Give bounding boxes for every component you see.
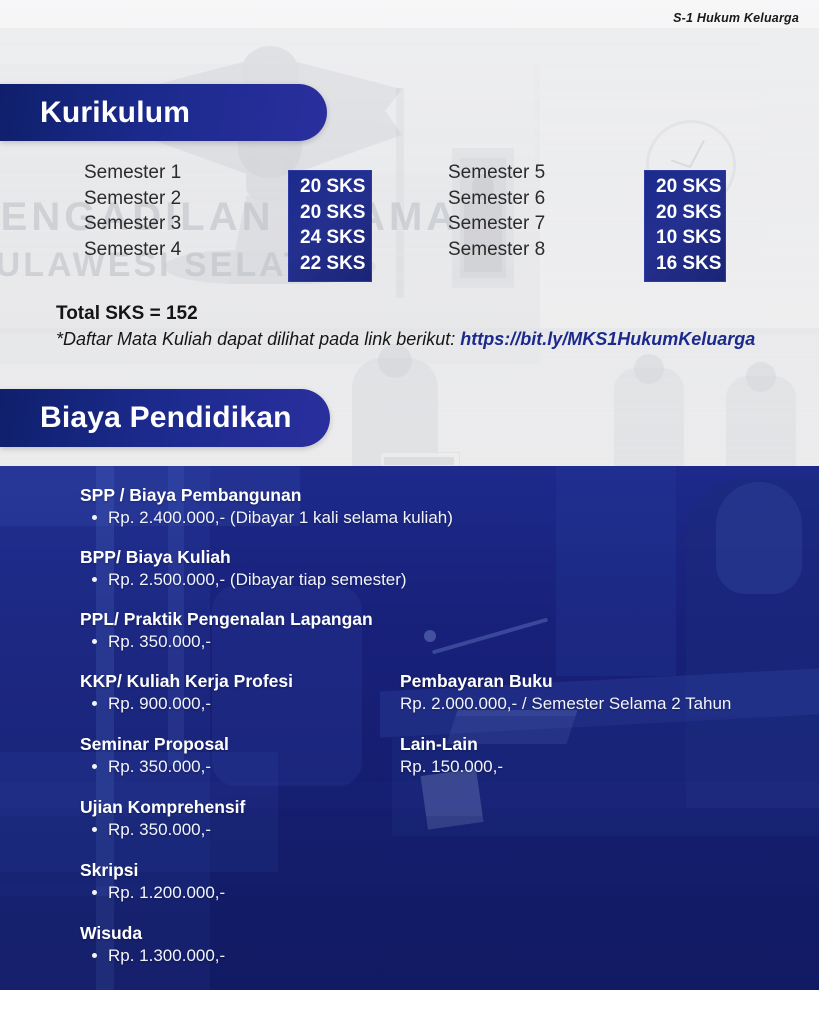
fee-group: Wisuda Rp. 1.300.000,- (80, 922, 225, 967)
fee-item-list: Rp. 2.000.000,- / Semester Selama 2 Tahu… (400, 692, 731, 715)
fee-title: SPP / Biaya Pembangunan (80, 484, 453, 506)
biaya-title: Biaya Pendidikan (40, 401, 292, 435)
fee-group: SPP / Biaya Pembangunan Rp. 2.400.000,- … (80, 484, 453, 529)
fee-title: Wisuda (80, 922, 225, 944)
fee-group: Lain-Lain Rp. 150.000,- (400, 733, 503, 778)
semester-label-list-right: Semester 5 Semester 6 Semester 7 Semeste… (448, 160, 545, 262)
semester-column-right: Semester 5 Semester 6 Semester 7 Semeste… (448, 160, 545, 262)
sks-value: 20 SKS (300, 200, 360, 226)
kurikulum-title: Kurikulum (40, 96, 190, 130)
fee-item-list: Rp. 350.000,- (80, 818, 245, 841)
fee-group: Ujian Komprehensif Rp. 350.000,- (80, 796, 245, 841)
fee-item: Rp. 350.000,- (80, 755, 229, 778)
fee-item: Rp. 350.000,- (80, 630, 373, 653)
semester-label: Semester 5 (448, 160, 545, 186)
fee-list: SPP / Biaya Pembangunan Rp. 2.400.000,- … (0, 466, 819, 990)
fee-group: Seminar Proposal Rp. 350.000,- (80, 733, 229, 778)
fee-group: Skripsi Rp. 1.200.000,- (80, 859, 225, 904)
curriculum-note-text: *Daftar Mata Kuliah dapat dilihat pada l… (56, 329, 460, 349)
fee-item: Rp. 150.000,- (400, 755, 503, 778)
fee-item-list: Rp. 2.400.000,- (Dibayar 1 kali selama k… (80, 506, 453, 529)
fee-title: Lain-Lain (400, 733, 503, 755)
fee-group: BPP/ Biaya Kuliah Rp. 2.500.000,- (Dibay… (80, 546, 407, 591)
fee-title: Seminar Proposal (80, 733, 229, 755)
fee-title: Pembayaran Buku (400, 670, 731, 692)
semester-label: Semester 6 (448, 186, 545, 212)
fee-item: Rp. 2.000.000,- / Semester Selama 2 Tahu… (400, 692, 731, 715)
sks-value: 16 SKS (656, 251, 714, 277)
sks-value: 20 SKS (300, 174, 360, 200)
poster-page: PENGADILAN AGAMA SULAWESI SELATAN (0, 0, 819, 1024)
sks-value-list-left: 20 SKS 20 SKS 24 SKS 22 SKS (300, 174, 360, 276)
sks-value: 24 SKS (300, 225, 360, 251)
fee-item-list: Rp. 350.000,- (80, 630, 373, 653)
fee-item-list: Rp. 150.000,- (400, 755, 503, 778)
fee-item: Rp. 900.000,- (80, 692, 293, 715)
fee-title: KKP/ Kuliah Kerja Profesi (80, 670, 293, 692)
biaya-section-header: Biaya Pendidikan (0, 389, 330, 447)
sks-badge-left: 20 SKS 20 SKS 24 SKS 22 SKS (288, 170, 372, 282)
fee-title: Skripsi (80, 859, 225, 881)
fee-title: BPP/ Biaya Kuliah (80, 546, 407, 568)
fee-title: Ujian Komprehensif (80, 796, 245, 818)
curriculum-note-link[interactable]: https://bit.ly/MKS1HukumKeluarga (460, 329, 755, 349)
fee-item: Rp. 1.300.000,- (80, 944, 225, 967)
sks-value-list-right: 20 SKS 20 SKS 10 SKS 16 SKS (656, 174, 714, 276)
fee-group: PPL/ Praktik Pengenalan Lapangan Rp. 350… (80, 608, 373, 653)
sks-value: 10 SKS (656, 225, 714, 251)
sks-value: 20 SKS (656, 174, 714, 200)
semester-label: Semester 7 (448, 211, 545, 237)
fee-item-list: Rp. 350.000,- (80, 755, 229, 778)
fee-item: Rp. 2.500.000,- (Dibayar tiap semester) (80, 568, 407, 591)
fee-group: KKP/ Kuliah Kerja Profesi Rp. 900.000,- (80, 670, 293, 715)
semester-label: Semester 8 (448, 237, 545, 263)
kurikulum-section-header: Kurikulum (0, 84, 327, 141)
semester-label: Semester 1 (84, 160, 181, 186)
semester-label-list-left: Semester 1 Semester 2 Semester 3 Semeste… (84, 160, 181, 262)
sks-value: 20 SKS (656, 200, 714, 226)
program-label: S-1 Hukum Keluarga (673, 11, 799, 25)
footer-bar: QS WORLDUNIVERSITYRANKINGSAsia 2023 THE … (0, 990, 819, 1024)
semester-label: Semester 2 (84, 186, 181, 212)
curriculum-note: *Daftar Mata Kuliah dapat dilihat pada l… (56, 329, 755, 350)
sks-value: 22 SKS (300, 251, 360, 277)
fee-item: Rp. 2.400.000,- (Dibayar 1 kali selama k… (80, 506, 453, 529)
semester-label: Semester 4 (84, 237, 181, 263)
semester-credits-table: Semester 1 Semester 2 Semester 3 Semeste… (0, 160, 819, 280)
fee-item-list: Rp. 900.000,- (80, 692, 293, 715)
fee-title: PPL/ Praktik Pengenalan Lapangan (80, 608, 373, 630)
semester-label: Semester 3 (84, 211, 181, 237)
semester-column-left: Semester 1 Semester 2 Semester 3 Semeste… (84, 160, 181, 262)
sks-badge-right: 20 SKS 20 SKS 10 SKS 16 SKS (644, 170, 726, 282)
fee-item-list: Rp. 1.300.000,- (80, 944, 225, 967)
fee-item-list: Rp. 1.200.000,- (80, 881, 225, 904)
fee-group: Pembayaran Buku Rp. 2.000.000,- / Semest… (400, 670, 731, 715)
fee-item-list: Rp. 2.500.000,- (Dibayar tiap semester) (80, 568, 407, 591)
total-sks-label: Total SKS = 152 (56, 303, 198, 325)
fee-item: Rp. 1.200.000,- (80, 881, 225, 904)
fee-item: Rp. 350.000,- (80, 818, 245, 841)
